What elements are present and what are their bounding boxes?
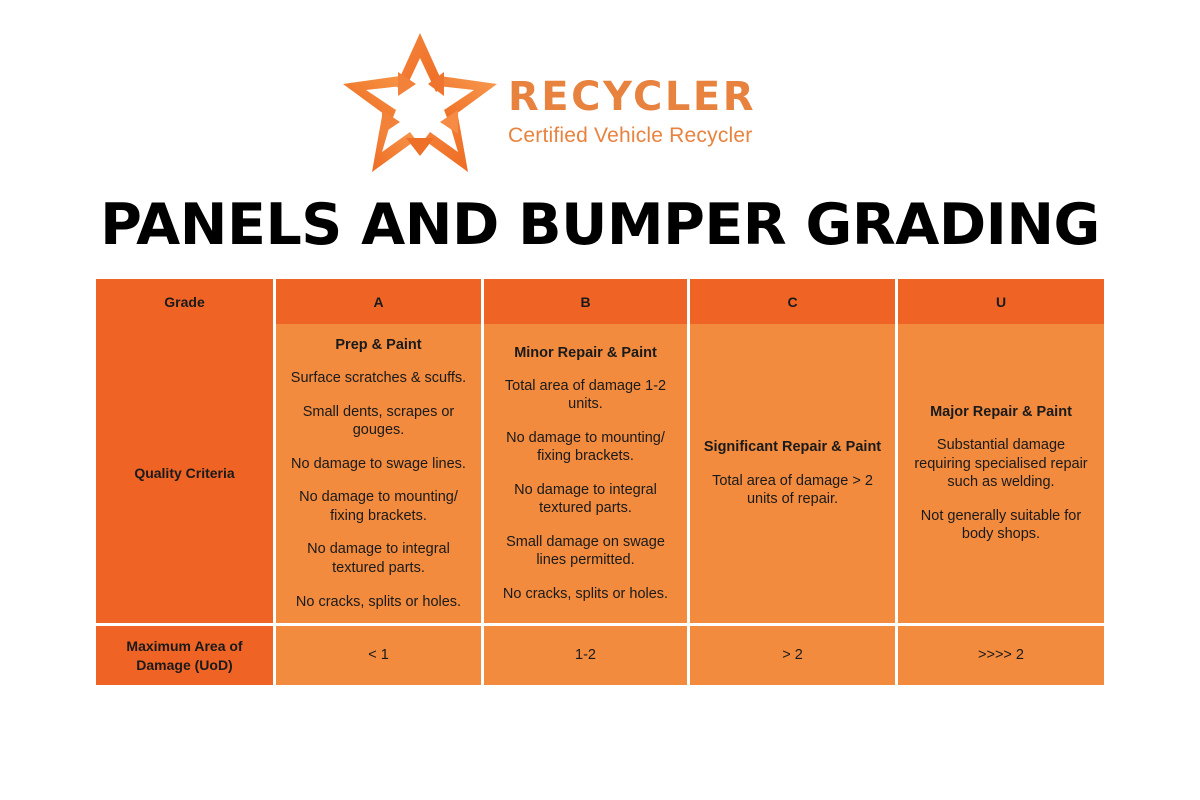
cell-quality-criteria-b: Minor Repair & Paint Total area of damag… [484, 324, 690, 626]
cell-line: Total area of damage > 2 units of repair… [703, 472, 882, 509]
row-label-maximum-area-of-damage: Maximum Area of Damage (UoD) [96, 626, 276, 685]
brand-logo: RECYCLER Certified Vehicle Recycler [340, 28, 770, 178]
cell-heading: Prep & Paint [335, 336, 421, 354]
cell-heading: Significant Repair & Paint [704, 438, 881, 456]
cell-max-damage-b: 1-2 [484, 626, 690, 685]
brand-wordmark: RECYCLER [508, 76, 756, 118]
cell-line: No damage to mounting/ fixing brackets. [497, 429, 674, 466]
cell-max-damage-c: > 2 [690, 626, 898, 685]
cell-line: No damage to mounting/ fixing brackets. [289, 488, 468, 525]
cell-heading: Minor Repair & Paint [514, 344, 657, 362]
cell-line: Not generally suitable for body shops. [911, 507, 1091, 544]
table-row-quality-criteria: Quality Criteria Prep & Paint Surface sc… [96, 324, 1104, 626]
cell-line: Surface scratches & scuffs. [291, 369, 466, 388]
cell-line: No cracks, splits or holes. [503, 585, 668, 604]
panels-bumper-grading-table: Grade A B C U Quality Criteria Prep & Pa… [96, 279, 1104, 685]
cell-max-damage-a: < 1 [276, 626, 484, 685]
cell-heading: Major Repair & Paint [930, 403, 1072, 421]
column-header-grade: Grade [96, 279, 276, 324]
column-header-c: C [690, 279, 898, 324]
cell-quality-criteria-u: Major Repair & Paint Substantial damage … [898, 324, 1104, 626]
row-label-quality-criteria: Quality Criteria [96, 324, 276, 626]
cell-line: Small damage on swage lines permitted. [497, 533, 674, 570]
cell-line: Small dents, scrapes or gouges. [289, 403, 468, 440]
table-row-maximum-area-of-damage: Maximum Area of Damage (UoD) < 1 1-2 > 2… [96, 626, 1104, 685]
brand-tagline: Certified Vehicle Recycler [508, 124, 756, 148]
cell-quality-criteria-a: Prep & Paint Surface scratches & scuffs.… [276, 324, 484, 626]
table-header-row: Grade A B C U [96, 279, 1104, 324]
cell-line: No damage to integral textured parts. [289, 540, 468, 577]
cell-max-damage-u: >>>> 2 [898, 626, 1104, 685]
cell-line: No damage to integral textured parts. [497, 481, 674, 518]
cell-line: No damage to swage lines. [291, 455, 466, 474]
cell-quality-criteria-c: Significant Repair & Paint Total area of… [690, 324, 898, 626]
cell-line: Substantial damage requiring specialised… [911, 436, 1091, 492]
page-title: PANELS AND BUMPER GRADING [0, 194, 1200, 257]
brand-logo-text: RECYCLER Certified Vehicle Recycler [508, 58, 756, 148]
recycler-star-logo-icon [340, 28, 500, 178]
poster-page: RECYCLER Certified Vehicle Recycler PANE… [0, 0, 1200, 800]
column-header-u: U [898, 279, 1104, 324]
column-header-b: B [484, 279, 690, 324]
cell-line: Total area of damage 1-2 units. [497, 377, 674, 414]
cell-line: No cracks, splits or holes. [296, 593, 461, 612]
column-header-a: A [276, 279, 484, 324]
